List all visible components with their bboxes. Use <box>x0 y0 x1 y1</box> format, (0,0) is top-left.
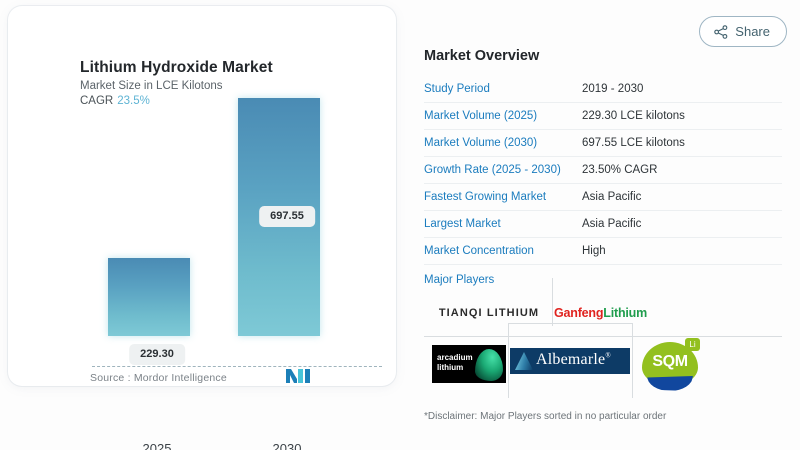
row-key: Market Volume (2030) <box>424 137 582 149</box>
arcadium-leaf-icon <box>475 349 503 381</box>
table-row: Market Concentration High <box>424 238 782 265</box>
table-row: Growth Rate (2025 - 2030) 23.50% CAGR <box>424 157 782 184</box>
row-value: 229.30 LCE kilotons <box>582 110 685 122</box>
row-value: Asia Pacific <box>582 218 641 230</box>
logo-arcadium-text: arcadium lithium <box>437 353 473 373</box>
grid-divider <box>508 323 509 398</box>
grid-divider <box>424 336 782 337</box>
grid-divider <box>632 323 633 398</box>
grid-divider <box>552 278 553 326</box>
albemarle-registered-mark: ® <box>605 352 611 360</box>
row-value: 23.50% CAGR <box>582 164 657 176</box>
chart-card: Lithium Hydroxide Market Market Size in … <box>8 6 396 386</box>
table-row: Largest Market Asia Pacific <box>424 211 782 238</box>
bar-2025[interactable] <box>108 258 190 336</box>
logo-tianqi-text: TIANQI LITHIUM <box>439 307 539 319</box>
logo-ganfeng-lithium: GanfengLithium <box>554 303 647 323</box>
bar-2025-value-label: 229.30 <box>129 344 185 365</box>
row-value: 2019 - 2030 <box>582 83 643 95</box>
logo-tianqi-lithium: TIANQI LITHIUM <box>429 303 549 323</box>
screenshot-root: Lithium Hydroxide Market Market Size in … <box>0 0 800 450</box>
sqm-swoosh-icon <box>647 376 693 391</box>
table-row: Market Volume (2025) 229.30 LCE kilotons <box>424 103 782 130</box>
major-players-label: Major Players <box>424 274 582 286</box>
table-row: Market Volume (2030) 697.55 LCE kilotons <box>424 130 782 157</box>
bar-2025-fill <box>108 258 190 336</box>
row-key: Growth Rate (2025 - 2030) <box>424 164 582 176</box>
table-row: Study Period 2019 - 2030 <box>424 76 782 103</box>
logo-sqm-text: SQM <box>642 353 698 371</box>
table-row: Fastest Growing Market Asia Pacific <box>424 184 782 211</box>
row-value: Asia Pacific <box>582 191 641 203</box>
logo-ganfeng-text-red: Ganfeng <box>554 306 603 320</box>
major-players-panel: TIANQI LITHIUM GanfengLithium arcadium l… <box>424 290 782 398</box>
logo-albemarle: Albemarle® <box>510 348 630 374</box>
logo-ganfeng-text-green: Lithium <box>603 306 647 320</box>
row-key: Market Volume (2025) <box>424 110 582 122</box>
bar-2030-value-label: 697.55 <box>259 206 315 227</box>
share-nodes-icon <box>714 25 728 39</box>
arcadium-line-1: arcadium <box>437 353 473 363</box>
albemarle-mountain-icon <box>515 352 533 370</box>
logo-sqm: SQM Li <box>642 338 700 392</box>
x-axis-tick-2030: 2030 <box>273 441 302 450</box>
logo-arcadium-lithium: arcadium lithium <box>432 345 506 383</box>
row-key: Market Concentration <box>424 245 582 257</box>
row-value: High <box>582 245 606 257</box>
share-button[interactable]: Share <box>699 16 787 47</box>
reference-dashed-line <box>92 366 382 367</box>
source-text: Source : Mordor Intelligence <box>90 372 227 384</box>
bar-chart-plot: 229.30 697.55 2025 2030 <box>16 106 396 336</box>
market-overview-table: Study Period 2019 - 2030 Market Volume (… <box>424 76 782 295</box>
page-title: Lithium Hydroxide Market <box>80 59 273 77</box>
logo-albemarle-text: Albemarle® <box>536 351 611 369</box>
x-axis-tick-2025: 2025 <box>143 441 172 450</box>
albemarle-wordmark: Albemarle <box>536 351 605 368</box>
chart-subtitle: Market Size in LCE Kilotons <box>80 80 223 92</box>
market-overview-title: Market Overview <box>424 48 539 64</box>
row-key: Fastest Growing Market <box>424 191 582 203</box>
disclaimer-text: *Disclaimer: Major Players sorted in no … <box>424 411 666 422</box>
row-key: Study Period <box>424 83 582 95</box>
arcadium-line-2: lithium <box>437 363 473 373</box>
share-button-label: Share <box>735 24 770 39</box>
grid-divider <box>508 323 632 324</box>
sqm-li-badge: Li <box>685 338 700 351</box>
mordor-intelligence-logo-icon <box>286 369 310 383</box>
row-value: 697.55 LCE kilotons <box>582 137 685 149</box>
row-key: Largest Market <box>424 218 582 230</box>
